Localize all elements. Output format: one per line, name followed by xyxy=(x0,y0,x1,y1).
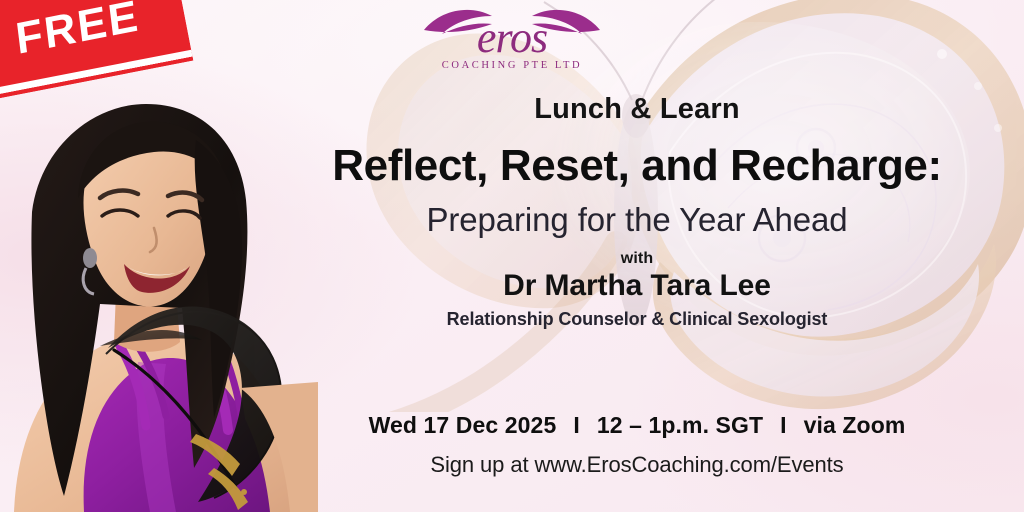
eros-wordmark-icon: eros xyxy=(412,4,612,66)
brand-tagline: COACHING PTE LTD xyxy=(412,60,612,71)
event-title: Reflect, Reset, and Recharge: xyxy=(250,141,1024,190)
signup-url[interactable]: Sign up at www.ErosCoaching.com/Events xyxy=(250,452,1024,478)
event-subtitle: Preparing for the Year Ahead xyxy=(250,201,1024,240)
brand-logo: eros COACHING PTE LTD xyxy=(412,4,612,88)
free-badge: FREE xyxy=(0,0,193,102)
event-time: 12 – 1p.m. SGT xyxy=(597,412,763,439)
with-label: with xyxy=(250,250,1024,268)
promo-banner: FREE eros COACHING PTE LTD Lunch & Learn… xyxy=(0,0,1024,512)
speaker-credentials: Relationship Counselor & Clinical Sexolo… xyxy=(250,309,1024,330)
event-platform: via Zoom xyxy=(804,412,906,439)
free-badge-label: FREE xyxy=(13,0,142,65)
event-date: Wed 17 Dec 2025 xyxy=(369,412,557,439)
content-block: Lunch & Learn Reflect, Reset, and Rechar… xyxy=(250,92,1024,330)
details-separator-1: I xyxy=(556,412,597,439)
details-separator-2: I xyxy=(763,412,804,439)
event-kicker: Lunch & Learn xyxy=(250,92,1024,127)
svg-text:eros: eros xyxy=(477,13,547,62)
speaker-name: Dr Martha Tara Lee xyxy=(250,269,1024,303)
event-details: Wed 17 Dec 2025 I 12 – 1p.m. SGT I via Z… xyxy=(250,412,1024,439)
